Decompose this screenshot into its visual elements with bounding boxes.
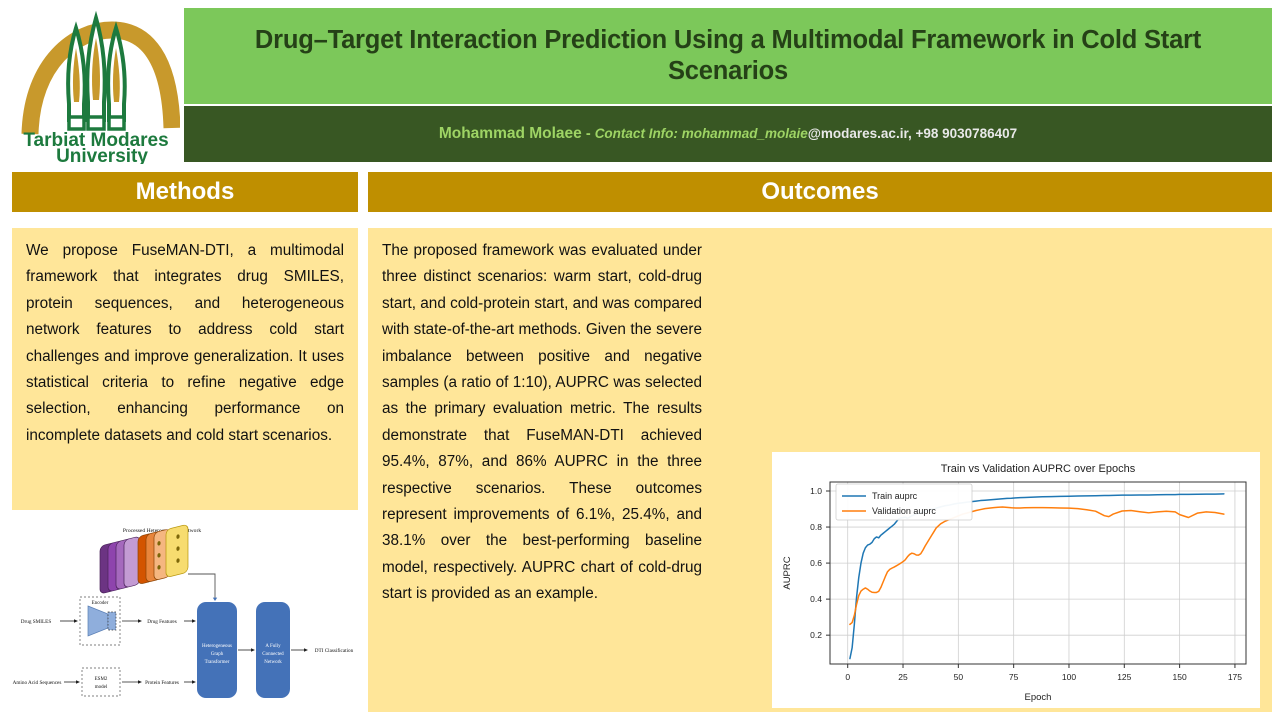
x-tick-label: 100 <box>1062 672 1076 682</box>
heterogeneous-graph-transformer-block: Heterogeneous Graph Transformer <box>197 602 237 698</box>
contact-info-label: Contact Info: <box>595 126 682 141</box>
legend-label-1: Train auprc <box>872 491 918 501</box>
drug-features-label: Drug Features <box>147 619 177 625</box>
y-tick-label: 0.8 <box>810 522 822 532</box>
auprc-chart-svg: Train vs Validation AUPRC over Epochs025… <box>772 452 1260 708</box>
contact-email-user: mohammad_molaie <box>682 126 808 141</box>
poster-title-banner: Drug–Target Interaction Prediction Using… <box>184 8 1272 104</box>
x-tick-label: 25 <box>898 672 908 682</box>
auprc-chart-card: Train vs Validation AUPRC over Epochs025… <box>772 452 1260 708</box>
methods-text-panel: We propose FuseMAN-DTI, a multimodal fra… <box>12 228 358 510</box>
hgt-label-line2: Graph <box>211 652 224 657</box>
chart-title: Train vs Validation AUPRC over Epochs <box>941 463 1136 475</box>
hgt-label-line3: Transformer <box>205 660 230 665</box>
y-axis-label: AUPRC <box>782 556 793 589</box>
author-contact-banner: Mohammad Molaee - Contact Info: mohammad… <box>184 106 1272 162</box>
encoder-label: Encoder <box>92 601 109 606</box>
y-tick-label: 1.0 <box>810 486 822 496</box>
contact-separator: - <box>582 126 595 142</box>
university-logo: Tarbiat Modares University <box>12 4 180 164</box>
logo-text-line2: University <box>56 146 148 164</box>
poster-header: Tarbiat Modares University Drug–Target I… <box>0 0 1280 168</box>
outcomes-section-header: Outcomes <box>368 172 1272 212</box>
methods-heading-text: Methods <box>136 178 235 206</box>
contact-email-domain-phone: @modares.ac.ir, +98 9030786407 <box>808 126 1017 141</box>
fcn-label-line1: A Fully <box>265 644 281 649</box>
logo-graphic: Tarbiat Modares University <box>12 4 180 164</box>
protein-features-label: Protein Features <box>145 680 179 686</box>
esm2-label-line2: model <box>95 685 108 690</box>
hgt-label-line1: Heterogeneous <box>202 644 232 649</box>
poster-title: Drug–Target Interaction Prediction Using… <box>198 25 1258 87</box>
y-tick-label: 0.6 <box>810 558 822 568</box>
methods-body-text: We propose FuseMAN-DTI, a multimodal fra… <box>26 238 344 449</box>
outcomes-body-text: The proposed framework was evaluated und… <box>382 238 702 608</box>
x-tick-label: 175 <box>1228 672 1242 682</box>
architecture-diagram-svg: Processed Heterogeneous Network <box>12 516 358 712</box>
outcomes-text-block: The proposed framework was evaluated und… <box>376 238 708 608</box>
x-tick-label: 50 <box>954 672 964 682</box>
x-tick-label: 125 <box>1117 672 1131 682</box>
y-tick-label: 0.2 <box>810 630 822 640</box>
architecture-diagram: Processed Heterogeneous Network <box>12 516 358 712</box>
legend-label-2: Validation auprc <box>872 506 936 516</box>
x-tick-label: 75 <box>1009 672 1019 682</box>
y-tick-label: 0.4 <box>810 594 822 604</box>
esm2-label-line1: ESM2 <box>95 677 108 682</box>
outcomes-panel: The proposed framework was evaluated und… <box>368 228 1272 712</box>
author-name: Mohammad Molaee <box>439 125 582 142</box>
x-tick-label: 0 <box>845 672 850 682</box>
auprc-chart: Train vs Validation AUPRC over Epochs025… <box>772 452 1260 708</box>
methods-section-header: Methods <box>12 172 358 212</box>
methods-figure-panel: Processed Heterogeneous Network <box>12 516 358 712</box>
dti-classification-label: DTI Classification <box>315 647 354 654</box>
drug-smiles-label: Drug SMILES <box>21 619 52 625</box>
author-contact-line: Mohammad Molaee - Contact Info: mohammad… <box>439 125 1017 143</box>
fcn-label-line3: Network <box>264 660 282 665</box>
fcn-label-line2: Connected <box>262 652 284 657</box>
x-tick-label: 150 <box>1173 672 1187 682</box>
amino-acid-sequences-label: Amino Acid Sequences <box>13 680 62 686</box>
x-axis-label: Epoch <box>1025 692 1052 703</box>
outcomes-heading-text: Outcomes <box>761 178 878 206</box>
fully-connected-network-block: A Fully Connected Network <box>256 602 290 698</box>
